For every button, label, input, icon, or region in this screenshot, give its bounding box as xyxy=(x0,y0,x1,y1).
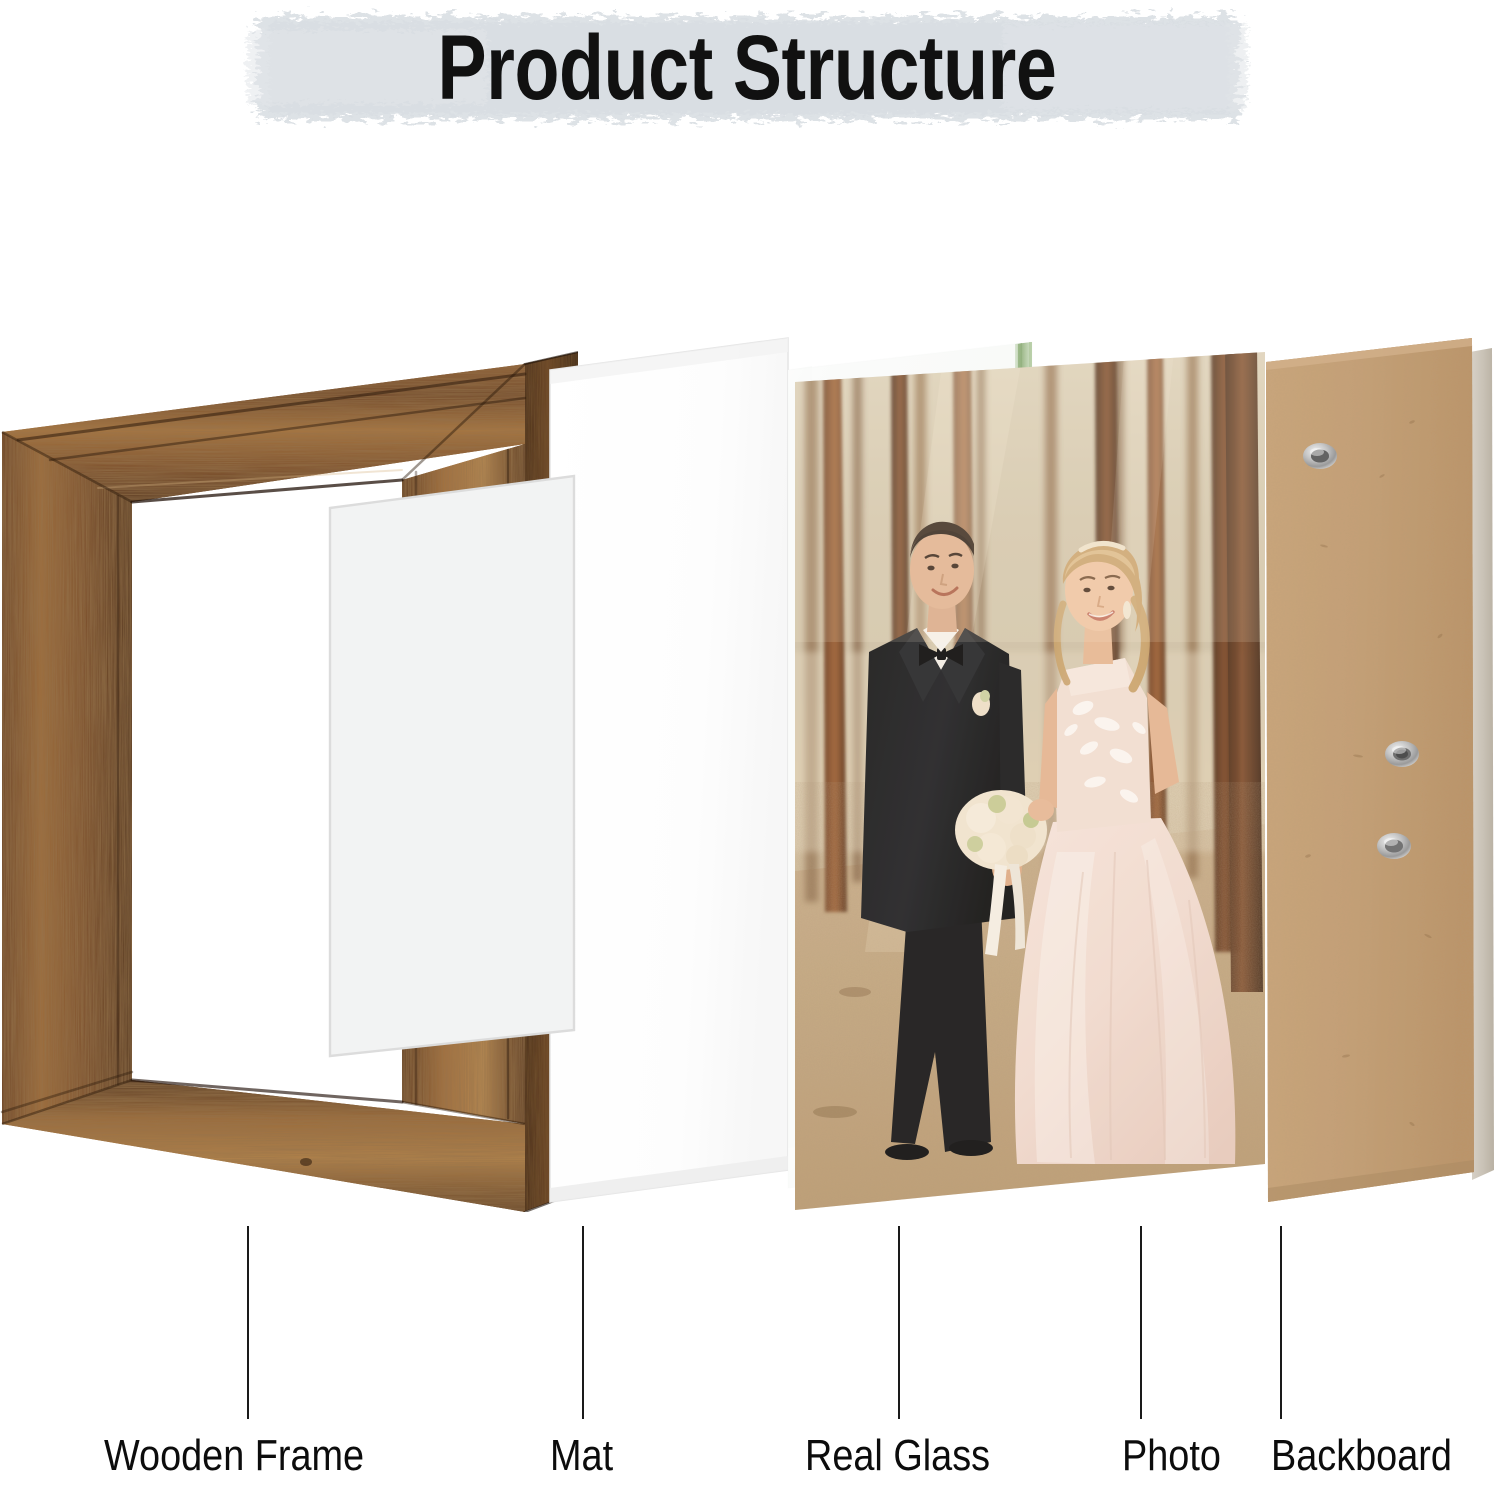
backboard-face xyxy=(1266,338,1474,1202)
leader-line-real-glass xyxy=(898,1226,900,1419)
leader-line-photo xyxy=(1140,1226,1142,1419)
mat-board xyxy=(550,338,788,1202)
label-wooden-frame: Wooden Frame xyxy=(104,1432,364,1480)
label-mat: Mat xyxy=(550,1432,613,1480)
component-photo xyxy=(795,352,1265,1210)
photo-illustration xyxy=(795,352,1265,1210)
label-real-glass: Real Glass xyxy=(805,1432,990,1480)
leader-line-wooden-frame xyxy=(247,1226,249,1419)
infographic-canvas: Product Structure xyxy=(0,0,1494,1500)
label-photo: Photo xyxy=(1122,1432,1221,1480)
leader-line-mat xyxy=(582,1226,584,1419)
eyelet-icon xyxy=(1385,741,1419,767)
component-mat xyxy=(548,330,798,1210)
leader-line-backboard xyxy=(1280,1226,1282,1419)
title-banner: Product Structure xyxy=(243,4,1251,132)
label-backboard: Backboard xyxy=(1271,1432,1452,1480)
eyelet-icon xyxy=(1377,833,1411,859)
photo-scene xyxy=(795,352,1265,1210)
eyelet-icon xyxy=(1303,443,1337,469)
component-backboard xyxy=(1262,336,1494,1212)
backboard-illustration xyxy=(1262,336,1494,1212)
mat-cutout-window xyxy=(330,476,574,1056)
page-title: Product Structure xyxy=(344,4,1150,132)
mat-illustration xyxy=(548,330,798,1210)
